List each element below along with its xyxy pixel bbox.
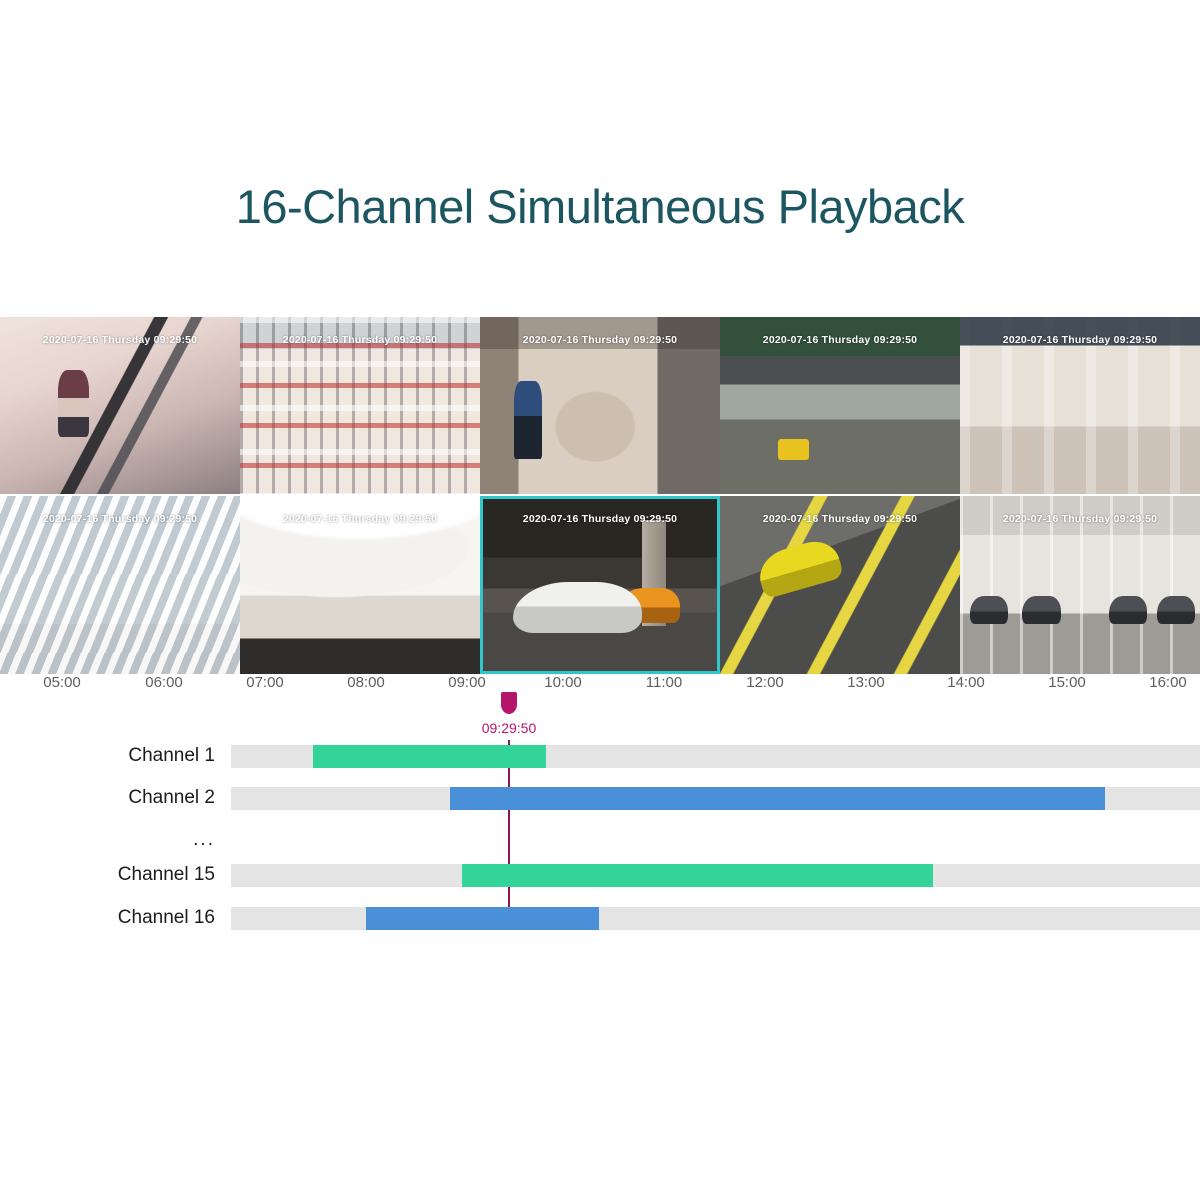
video-tile-4[interactable]: 2020-07-16 Thursday 09:29:50 [720,317,960,494]
recording-segment[interactable] [313,745,546,768]
page-title: 16-Channel Simultaneous Playback [0,179,1200,234]
video-tile-6[interactable]: 2020-07-16 Thursday 09:29:50 [0,496,240,674]
video-tile-8-selected[interactable]: 2020-07-16 Thursday 09:29:50 [480,496,720,674]
recording-segment[interactable] [462,864,933,887]
parked-car-d [1157,596,1195,624]
yellow-car [754,535,844,599]
tick-label-0500: 05:00 [43,674,81,691]
video-wall-row-1: 2020-07-16 Thursday 09:29:50 2020-07-16 … [0,317,1200,494]
playhead-time-label: 09:29:50 [482,720,537,736]
playhead-marker-icon[interactable] [501,692,517,714]
tick-label-1200: 12:00 [746,674,784,691]
white-car [513,582,642,634]
timeline-ruler[interactable]: 05:00 06:00 07:00 08:00 09:00 10:00 11:0… [0,674,1200,714]
timeline-row-channel-15[interactable]: Channel 15 [0,855,1200,895]
tick-label-0900: 09:00 [448,674,486,691]
tick-label-1400: 14:00 [947,674,985,691]
video-tile-7[interactable]: 2020-07-16 Thursday 09:29:50 [240,496,480,674]
camera-scene-indoor-parking [960,496,1200,674]
timeline-row-channel-1[interactable]: Channel 1 [0,736,1200,776]
video-tile-5[interactable]: 2020-07-16 Thursday 09:29:50 [960,317,1200,494]
parked-car-c [1109,596,1147,624]
camera-scene-street-model [720,317,960,494]
video-wall: 2020-07-16 Thursday 09:29:50 2020-07-16 … [0,317,1200,674]
tick-label-0600: 06:00 [145,674,183,691]
channel-label-ellipsis: ... [0,820,231,860]
tick-label-1000: 10:00 [544,674,582,691]
parked-car-b [1022,596,1060,624]
parked-car-a [970,596,1008,624]
recording-segment[interactable] [450,787,1105,810]
camera-scene-mall-escalator [0,317,240,494]
channel-label-2: Channel 2 [0,778,231,818]
video-wall-row-2: 2020-07-16 Thursday 09:29:50 2020-07-16 … [0,496,1200,674]
video-tile-9[interactable]: 2020-07-16 Thursday 09:29:50 [720,496,960,674]
camera-scene-mall-atrium [240,317,480,494]
video-tile-3[interactable]: 2020-07-16 Thursday 09:29:50 [480,317,720,494]
channel-track-16[interactable] [231,907,1200,930]
video-tile-2[interactable]: 2020-07-16 Thursday 09:29:50 [240,317,480,494]
tick-label-1600: 16:00 [1149,674,1187,691]
tick-label-0800: 08:00 [347,674,385,691]
video-tile-1[interactable]: 2020-07-16 Thursday 09:29:50 [0,317,240,494]
channel-track-2[interactable] [231,787,1200,810]
channel-label-16: Channel 16 [0,898,231,938]
tick-label-1500: 15:00 [1048,674,1086,691]
channel-label-1: Channel 1 [0,736,231,776]
channel-track-15[interactable] [231,864,1200,887]
camera-scene-skylight-atrium [0,496,240,674]
channel-label-15: Channel 15 [0,855,231,895]
camera-scene-parking-garage [483,499,717,671]
video-tile-10[interactable]: 2020-07-16 Thursday 09:29:50 [960,496,1200,674]
timeline-row-ellipsis: ... [0,820,1200,860]
camera-scene-parking-space [720,496,960,674]
tick-label-1100: 11:00 [646,674,682,691]
channel-track-1[interactable] [231,745,1200,768]
camera-scene-curved-balconies [240,496,480,674]
tick-label-0700: 07:00 [246,674,284,691]
playback-timeline[interactable]: 05:00 06:00 07:00 08:00 09:00 10:00 11:0… [0,674,1200,954]
timeline-row-channel-16[interactable]: Channel 16 [0,898,1200,938]
camera-scene-storefront-corridor [960,317,1200,494]
timeline-row-channel-2[interactable]: Channel 2 [0,778,1200,818]
camera-scene-mall-kiosk [480,317,720,494]
recording-segment[interactable] [366,907,599,930]
tick-label-1300: 13:00 [847,674,885,691]
